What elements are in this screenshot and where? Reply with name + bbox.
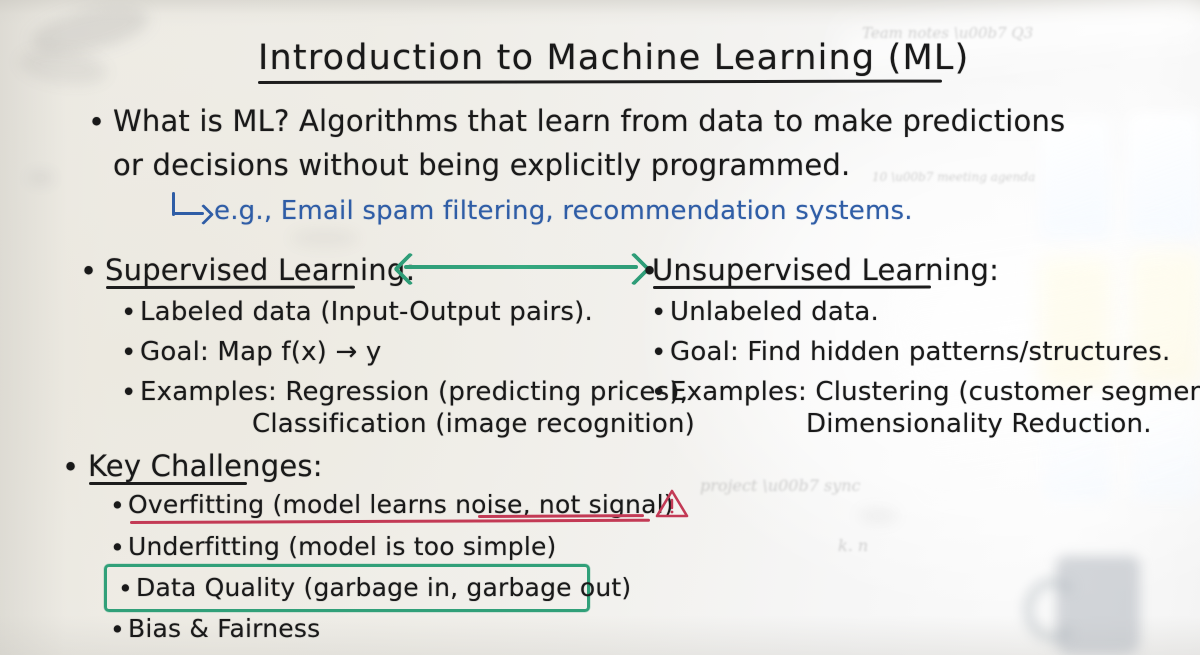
- unsupervised-item-2-continuation: Dimensionality Reduction.: [806, 409, 1152, 439]
- supervised-item-1: Goal: Map f(x) → y: [140, 337, 382, 367]
- intro-line-2: or decisions without being explicitly pr…: [113, 148, 850, 182]
- whiteboard-photo: Team notes \u00b7 Q3 10 \u00b7 meeting a…: [0, 0, 1200, 655]
- supervised-item-0: Labeled data (Input-Output pairs).: [140, 297, 593, 327]
- unsupervised-item-1: Goal: Find hidden patterns/structures.: [670, 337, 1170, 367]
- supervised-bullet-marker: •: [80, 254, 97, 288]
- supervised-item-2-continuation: Classification (image recognition): [252, 409, 695, 439]
- challenge-item-1-marker: •: [110, 533, 125, 562]
- intro-bullet-marker: •: [88, 105, 105, 139]
- supervised-heading: Supervised Learning:: [105, 253, 415, 287]
- supervised-item-2-marker: •: [121, 378, 137, 408]
- intro-line-1: What is ML? Algorithms that learn from d…: [113, 104, 1065, 138]
- board-top-shadow: [0, 0, 1200, 26]
- unsupervised-item-0-marker: •: [651, 298, 667, 328]
- unsupervised-heading: Unsupervised Learning:: [652, 253, 999, 287]
- warning-triangle-icon: [655, 488, 689, 523]
- challenge-item-0: Overfitting (model learns noise, not sig…: [128, 490, 674, 519]
- unsupervised-item-0: Unlabeled data.: [670, 297, 879, 327]
- challenge-item-3-marker: •: [110, 615, 125, 644]
- unsupervised-item-1-marker: •: [651, 338, 667, 368]
- unsupervised-item-2-marker: •: [651, 378, 667, 408]
- supervised-item-0-marker: •: [121, 298, 137, 328]
- supervised-item-2: Examples: Regression (predicting prices)…: [140, 377, 688, 407]
- challenges-heading: Key Challenges:: [88, 449, 323, 483]
- challenge-item-2-marker: •: [118, 574, 133, 603]
- page-title: Introduction to Machine Learning (ML): [258, 38, 969, 78]
- challenge-item-0-marker: •: [110, 491, 125, 520]
- challenge-item-3: Bias & Fairness: [128, 614, 320, 643]
- challenge-item-2: Data Quality (garbage in, garbage out): [136, 573, 631, 602]
- intro-example-note: e.g., Email spam filtering, recommendati…: [214, 196, 913, 226]
- challenges-bullet-marker: •: [62, 450, 79, 484]
- supervised-item-1-marker: •: [121, 338, 137, 368]
- unsupervised-item-2: Examples: Clustering (customer segmentat…: [670, 377, 1200, 407]
- challenge-item-1: Underfitting (model is too simple): [128, 532, 557, 561]
- board-left-shadow: [0, 0, 110, 655]
